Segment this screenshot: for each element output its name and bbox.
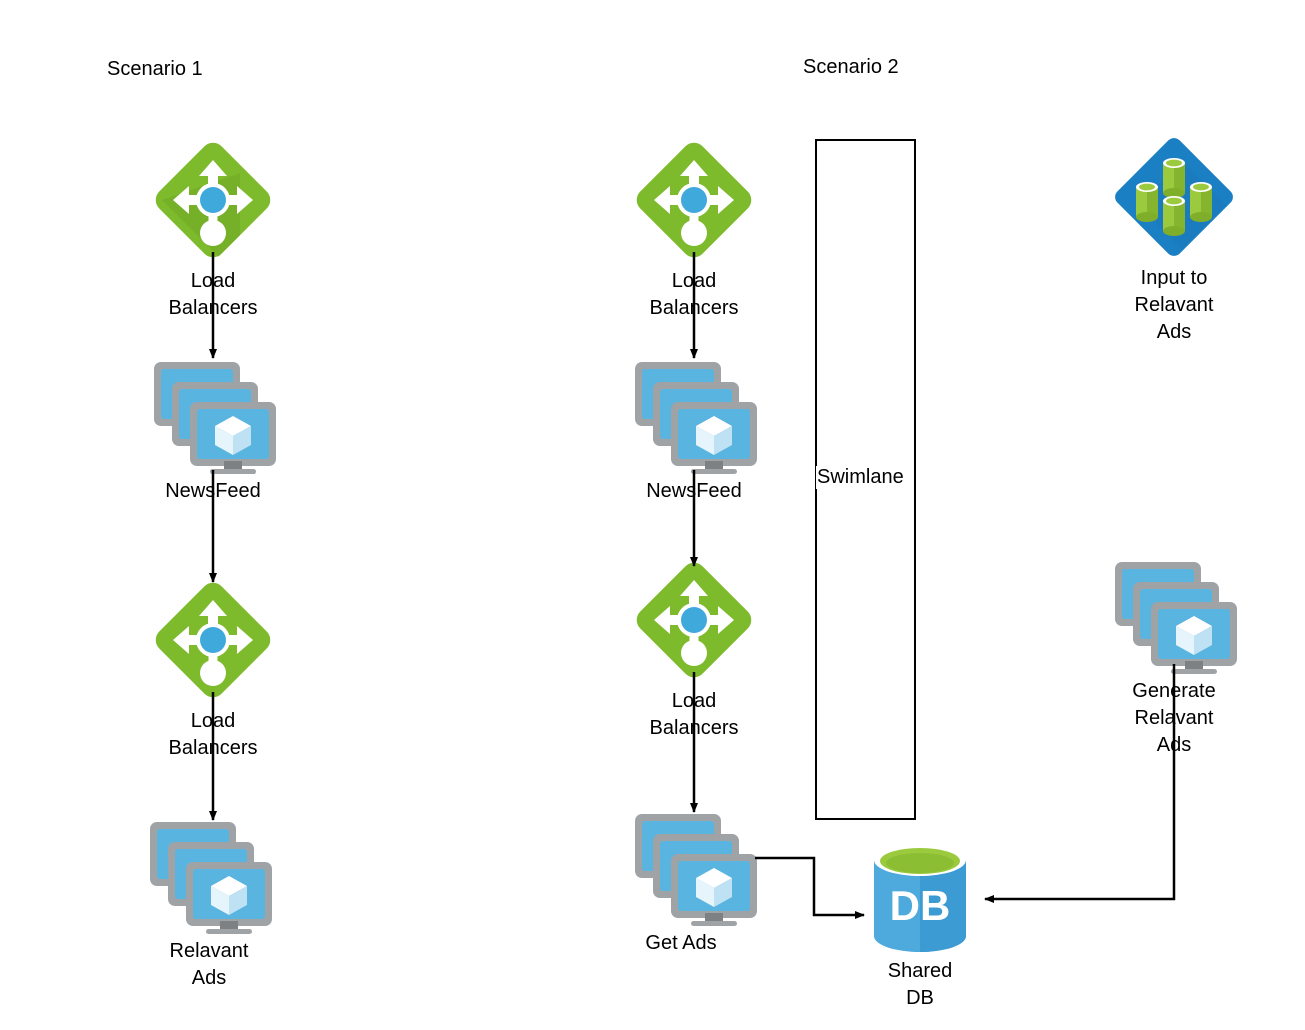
scenario-1-title: Scenario 1: [107, 58, 203, 81]
scenario-2-title: Scenario 2: [803, 56, 899, 79]
server-stack-icon: [150, 358, 276, 474]
node-s2-input-to-relavant-ads[interactable]: Input to Relavant Ads: [1114, 137, 1234, 257]
node-label: Load Balancers: [650, 688, 739, 742]
node-label: Relavant Ads: [170, 938, 249, 992]
load-balancer-icon: [153, 140, 273, 260]
database-icon: DB: [864, 842, 976, 954]
node-label: NewsFeed: [165, 478, 261, 505]
load-balancer-icon: [634, 140, 754, 260]
diagram-canvas: Scenario 1 Scenario 2 Swimlane: [0, 0, 1305, 1030]
node-label: NewsFeed: [646, 478, 742, 505]
node-s2-generate-relavant-ads[interactable]: Generate Relavant Ads: [1111, 558, 1237, 674]
server-stack-icon: [631, 358, 757, 474]
node-label: Load Balancers: [169, 268, 258, 322]
swimlane-label: Swimlane: [816, 466, 905, 489]
node-label: Load Balancers: [169, 708, 258, 762]
node-s1-relavant-ads[interactable]: Relavant Ads: [146, 818, 272, 934]
node-label: Load Balancers: [650, 268, 739, 322]
server-stack-icon: [631, 810, 757, 926]
node-s1-newsfeed[interactable]: NewsFeed: [150, 358, 276, 474]
node-s2-load-balancer-1[interactable]: Load Balancers: [634, 140, 754, 260]
server-stack-icon: [146, 818, 272, 934]
node-s2-shared-db[interactable]: DB Shared DB: [864, 842, 976, 954]
node-label: Input to Relavant Ads: [1135, 265, 1214, 346]
data-diamond-icon: [1114, 137, 1234, 257]
server-stack-icon: [1111, 558, 1237, 674]
load-balancer-icon: [153, 580, 273, 700]
node-s2-load-balancer-2[interactable]: Load Balancers: [634, 560, 754, 680]
node-s2-get-ads[interactable]: Get Ads: [631, 810, 757, 926]
svg-text:DB: DB: [890, 882, 951, 929]
node-s1-load-balancer-1[interactable]: Load Balancers: [153, 140, 273, 260]
node-s2-newsfeed[interactable]: NewsFeed: [631, 358, 757, 474]
load-balancer-icon: [634, 560, 754, 680]
node-label: Generate Relavant Ads: [1132, 678, 1215, 759]
node-label: Shared DB: [888, 958, 953, 1012]
node-s1-load-balancer-2[interactable]: Load Balancers: [153, 580, 273, 700]
arrow-s2-getads-to-db: [755, 858, 864, 915]
node-label: Get Ads: [645, 930, 716, 957]
